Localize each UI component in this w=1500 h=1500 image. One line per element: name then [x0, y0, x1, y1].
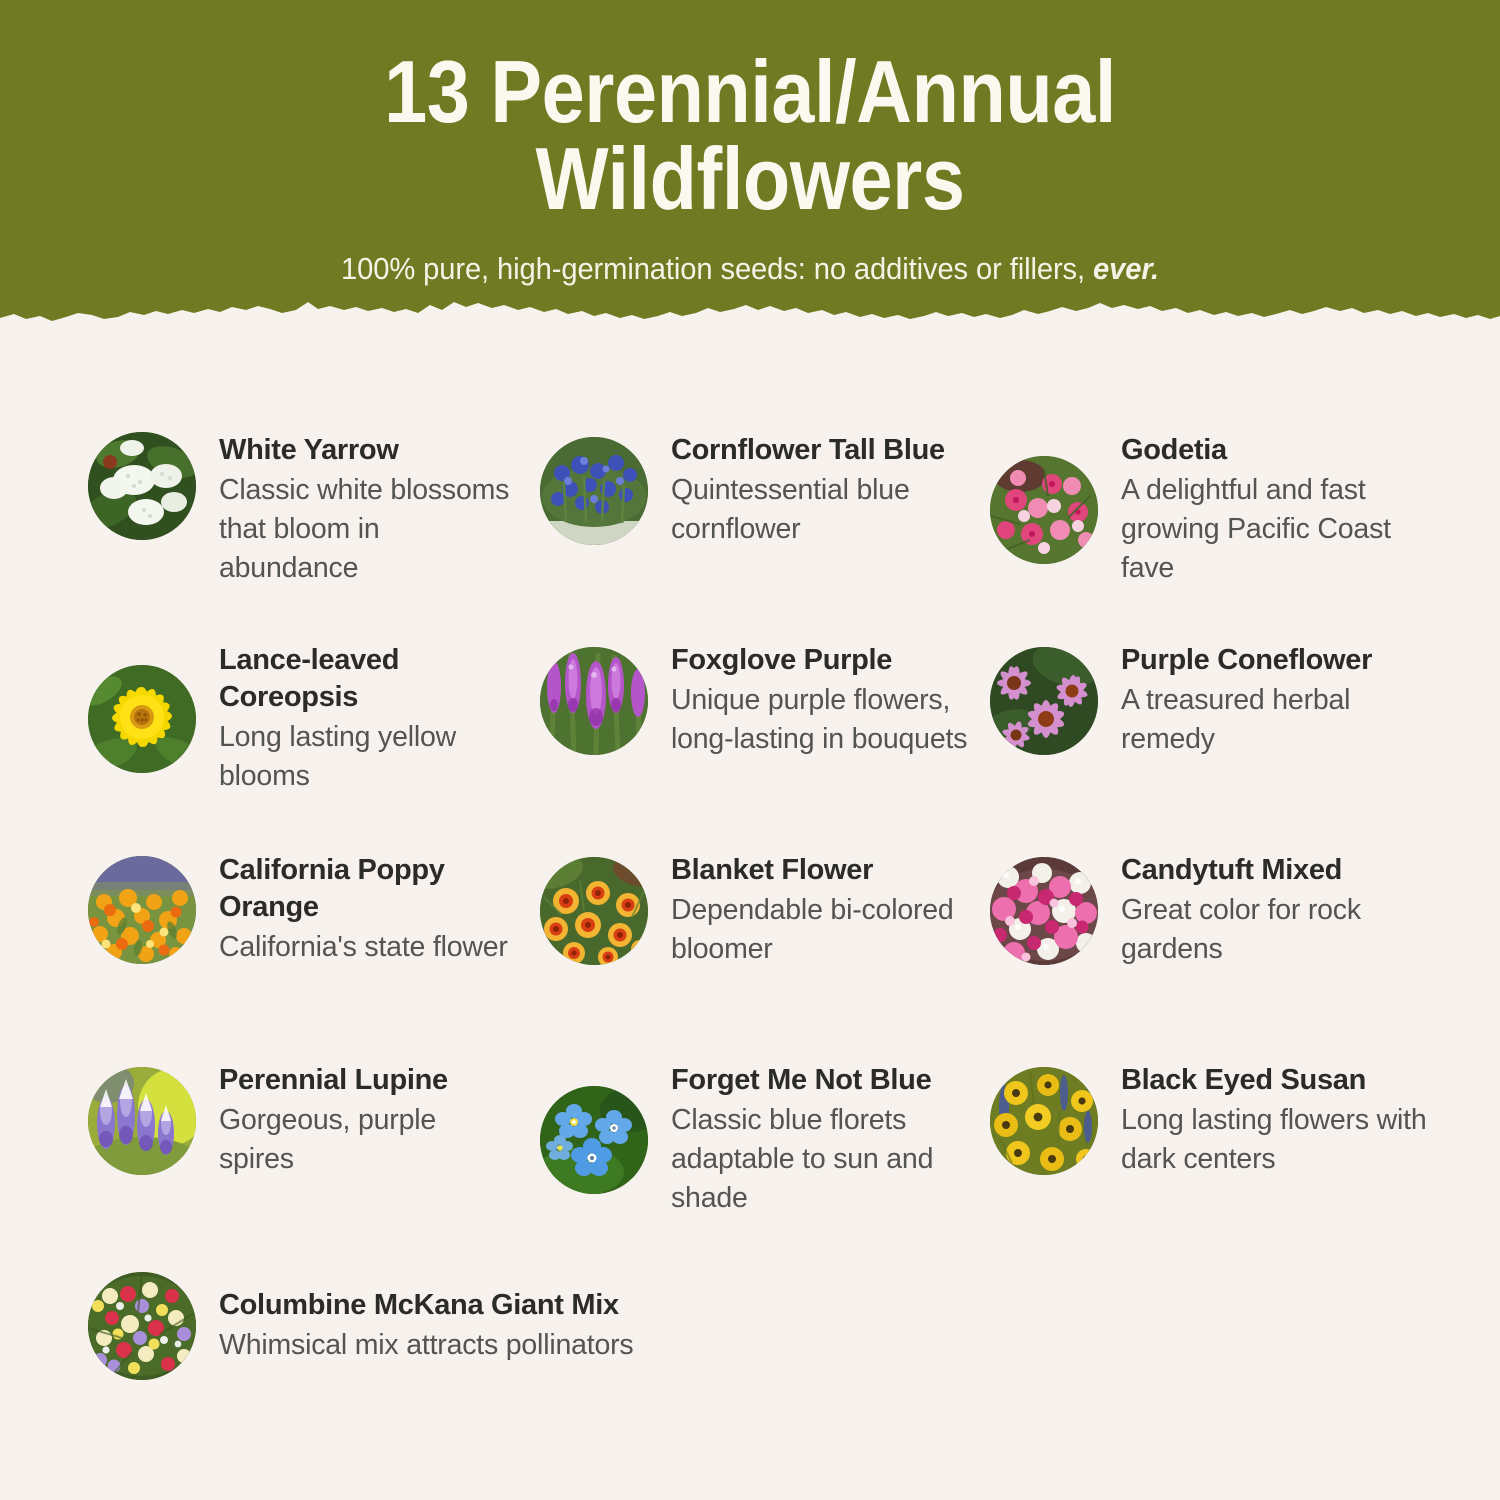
flower-description: A delightful and fast growing Pacific Co…: [1121, 471, 1430, 588]
flower-name: Lance-leaved Coreopsis: [219, 642, 518, 716]
white-yarrow-photo: [88, 432, 196, 540]
candytuft-mixed-photo: [990, 857, 1098, 965]
flower-description: Long lasting flowers with dark centers: [1121, 1101, 1430, 1179]
blanket-flower-photo: [540, 857, 648, 965]
black-eyed-susan-photo: [990, 1067, 1098, 1175]
flower-description: Gorgeous, purple spires: [219, 1101, 518, 1179]
flower-name: California Poppy Orange: [219, 852, 518, 926]
godetia-photo: [990, 456, 1098, 564]
flower-description: Whimsical mix attracts pollinators: [219, 1326, 633, 1365]
flower-description: Great color for rock gardens: [1121, 891, 1430, 969]
purple-coneflower-photo: [990, 647, 1098, 755]
flower-description: Long lasting yellow blooms: [219, 718, 518, 796]
list-item[interactable]: Cornflower Tall Blue Quintessential blue…: [540, 432, 970, 549]
page-title: 13 Perennial/Annual Wildflowers: [90, 48, 1410, 222]
flower-description: Classic white blossoms that bloom in abu…: [219, 471, 518, 588]
flower-description: Unique purple flowers, long-lasting in b…: [671, 681, 980, 759]
flower-description: A treasured herbal remedy: [1121, 681, 1430, 759]
flower-name: Purple Coneflower: [1121, 642, 1430, 679]
wildflower-list: White Yarrow Classic white blossoms that…: [0, 332, 1500, 1500]
list-item[interactable]: Forget Me Not Blue Classic blue florets …: [540, 1062, 980, 1218]
page-title-line-2: Wildflowers: [535, 129, 964, 228]
list-item[interactable]: White Yarrow Classic white blossoms that…: [88, 432, 518, 588]
flower-name: Godetia: [1121, 432, 1430, 469]
columbine-mckana-giant-mix-photo: [88, 1272, 196, 1380]
torn-paper-edge-divider: [0, 288, 1500, 332]
flower-name: Forget Me Not Blue: [671, 1062, 980, 1099]
flower-name: Candytuft Mixed: [1121, 852, 1430, 889]
list-item[interactable]: Lance-leaved Coreopsis Long lasting yell…: [88, 642, 518, 796]
list-item[interactable]: Black Eyed Susan Long lasting flowers wi…: [990, 1062, 1430, 1179]
list-item[interactable]: Foxglove Purple Unique purple flowers, l…: [540, 642, 980, 759]
list-item[interactable]: California Poppy Orange California's sta…: [88, 852, 518, 967]
cornflower-tall-blue-photo: [540, 437, 648, 545]
flower-name: Blanket Flower: [671, 852, 970, 889]
list-item[interactable]: Candytuft Mixed Great color for rock gar…: [990, 852, 1430, 969]
flower-name: Perennial Lupine: [219, 1062, 518, 1099]
list-item[interactable]: Purple Coneflower A treasured herbal rem…: [990, 642, 1430, 759]
list-item[interactable]: Perennial Lupine Gorgeous, purple spires: [88, 1062, 518, 1179]
list-item[interactable]: Godetia A delightful and fast growing Pa…: [990, 432, 1430, 588]
flower-description: California's state flower: [219, 928, 518, 967]
lance-leaved-coreopsis-photo: [88, 665, 196, 773]
california-poppy-orange-photo: [88, 856, 196, 964]
header-band: 13 Perennial/Annual Wildflowers 100% pur…: [0, 0, 1500, 332]
flower-name: Black Eyed Susan: [1121, 1062, 1430, 1099]
flower-name: Cornflower Tall Blue: [671, 432, 970, 469]
page-subtitle-main: 100% pure, high-germination seeds: no ad…: [341, 252, 1085, 286]
foxglove-purple-photo: [540, 647, 648, 755]
page-subtitle-emphasis: ever.: [1093, 252, 1159, 286]
flower-name: Columbine McKana Giant Mix: [219, 1287, 633, 1324]
flower-description: Quintessential blue cornflower: [671, 471, 970, 549]
flower-description: Classic blue florets adaptable to sun an…: [671, 1101, 980, 1218]
flower-name: Foxglove Purple: [671, 642, 980, 679]
list-item[interactable]: Columbine McKana Giant Mix Whimsical mix…: [88, 1272, 788, 1380]
page-subtitle: 100% pure, high-germination seeds: no ad…: [34, 252, 1467, 287]
page-title-line-1: 13 Perennial/Annual: [384, 42, 1116, 141]
flower-description: Dependable bi-colored bloomer: [671, 891, 970, 969]
forget-me-not-blue-photo: [540, 1086, 648, 1194]
perennial-lupine-photo: [88, 1067, 196, 1175]
flower-name: White Yarrow: [219, 432, 518, 469]
list-item[interactable]: Blanket Flower Dependable bi-colored blo…: [540, 852, 970, 969]
